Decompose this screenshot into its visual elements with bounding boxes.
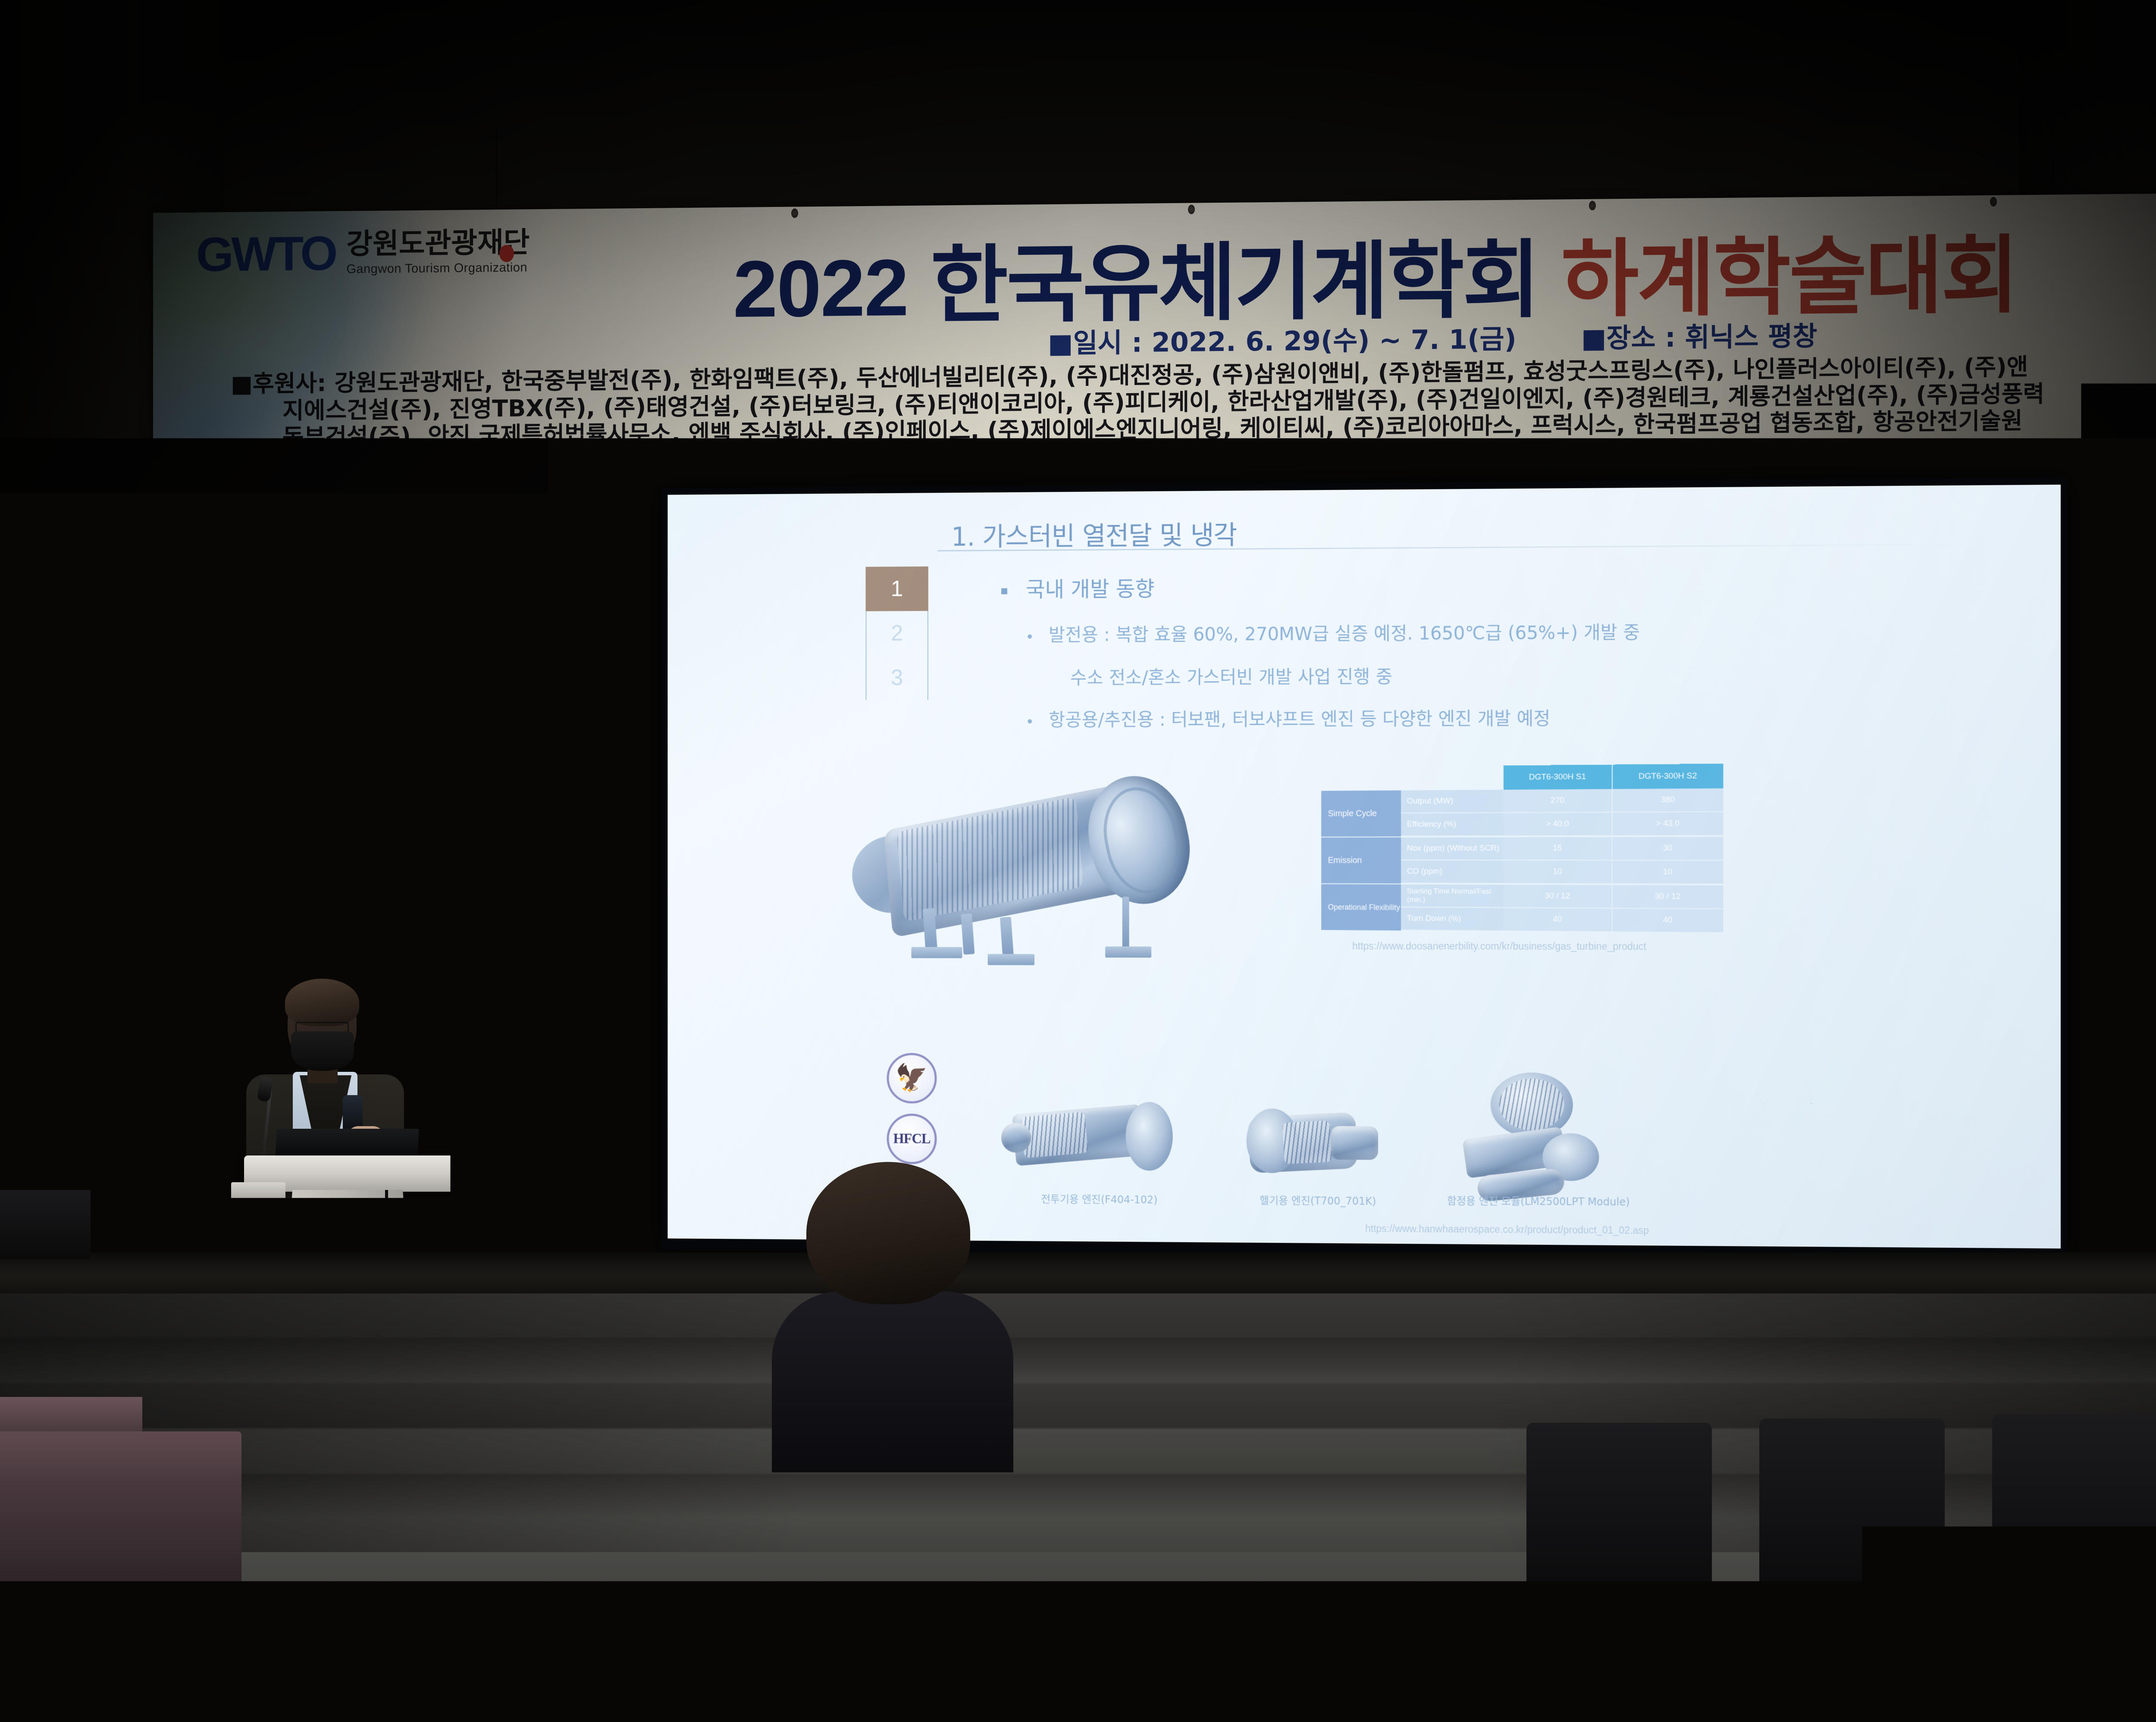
banner-year: 2022 (733, 242, 908, 335)
table-row-label: Nox (ppm) (Without SCR) (1401, 837, 1504, 861)
audience-head (720, 1380, 1031, 1638)
audience-ear-right (1009, 1509, 1056, 1574)
bullet-item-1: 발전용 : 복합 효율 60%, 270MW급 실증 예정. 1650℃급 (6… (1028, 618, 1640, 647)
presentation-slide: 1. 가스터빈 열전달 및 냉각 1 2 3 국내 개발 동향 발전용 : 복합… (667, 485, 2061, 1249)
seat (1992, 1414, 2156, 1604)
table-col-header: DGT6-300H S1 (1504, 764, 1613, 789)
rail-step-1: 1 (866, 567, 928, 611)
side-table-draped (0, 1431, 241, 1587)
engine-caption: 전투기용 엔진(F404-102) (1041, 1190, 1157, 1206)
speaker-hair (285, 979, 359, 1026)
rail-step-3: 3 (866, 655, 928, 700)
bullet-heading-text: 국내 개발 동향 (1026, 577, 1154, 602)
gwto-wordmark: GWTO (196, 229, 335, 279)
podium-monitor (275, 1129, 419, 1159)
hfcl-lab-logo-icon: HFCL (887, 1114, 937, 1165)
table-header-row: DGT6-300H S1 DGT6-300H S2 (1321, 764, 1724, 791)
table-cell: > 40.0 (1504, 813, 1613, 836)
table-row-label: Turn Down (%) (1401, 908, 1504, 931)
table-group-label: Simple Cycle (1321, 790, 1401, 837)
table-cell: > 43.0 (1613, 812, 1724, 836)
conference-photo-scene: GWTO 강원도관광재단 Gangwon Tourism Organizatio… (0, 0, 2156, 1722)
banner-date: ■일시 : 2022. 6. 29(수) ~ 7. 1(금) (1048, 317, 1517, 360)
bullet-heading: 국내 개발 동향 (1001, 572, 1154, 604)
seat (1526, 1423, 1712, 1604)
table-cell: 270 (1504, 789, 1613, 813)
table-cell: 40 (1504, 908, 1613, 932)
table-cell: 30 (1613, 837, 1724, 861)
table-row: Operational Flexibility Starting Time No… (1321, 884, 1724, 934)
bullet-item-1-continuation: 수소 전소/혼소 가스터빈 개발 사업 진행 중 (1070, 662, 1392, 690)
bullet-square-icon (1001, 588, 1007, 594)
table-cell: 40 (1613, 908, 1724, 933)
wall-panel-left (0, 0, 224, 1285)
banner-sponsor-list: ■후원사: 강원도관광재단, 한국중부발전(주), 한화임팩트(주), 두산에너… (231, 351, 2156, 452)
desk-row (1733, 1591, 2156, 1694)
source-url-doosan: https://www.doosanenerbility.com/kr/busi… (1352, 940, 1646, 952)
audience-member-foreground (655, 1380, 1095, 1722)
gwto-english-name: Gangwon Tourism Organization (346, 260, 530, 276)
side-table-upper (0, 1397, 142, 1436)
banner-venue: ■장소 : 휘닉스 평창 (1581, 314, 1817, 355)
bullet-dot-icon (1028, 634, 1032, 639)
table-group-label: Emission (1321, 837, 1401, 884)
side-monitor (0, 1190, 91, 1259)
projection-screen: 1. 가스터빈 열전달 및 냉각 1 2 3 국내 개발 동향 발전용 : 복합… (662, 478, 2067, 1260)
table-cell: 10 (1613, 861, 1724, 884)
table-row-label: Efficiency (%) (1401, 813, 1504, 836)
table-cell: 15 (1504, 837, 1613, 861)
engine-caption: 헬기용 엔진(T700_701K) (1260, 1192, 1376, 1208)
audience-head (806, 1162, 970, 1304)
turbine-spec-table: DGT6-300H S1 DGT6-300H S2 Simple Cycle O… (1321, 764, 1724, 934)
slide-title: 1. 가스터빈 열전달 및 냉각 (951, 514, 1237, 554)
bullet-item-2: 항공용/추진용 : 터보팬, 터보샤프트 엔진 등 다양한 엔진 개발 예정 (1028, 704, 1550, 732)
bullet-item-1-text: 발전용 : 복합 효율 60%, 270MW급 실증 예정. 1650℃급 (6… (1049, 622, 1640, 645)
engine-caption: 함정용 엔진 모듈(LM2500LPT Module) (1447, 1192, 1630, 1209)
korea-aerospace-university-logo-icon: 🦅 (887, 1053, 937, 1103)
engine-image-helicopter: 헬기용 엔진(T700_701K) (1232, 1084, 1404, 1215)
engine-image-naval-module: 함정용 엔진 모듈(LM2500LPT Module) (1438, 1068, 1638, 1216)
rail-step-2: 2 (866, 611, 928, 656)
seat (1759, 1418, 1945, 1604)
table-cell: 10 (1504, 861, 1613, 884)
gas-turbine-illustration (835, 745, 1205, 986)
table-cell: 30 / 12 (1504, 885, 1613, 908)
table-row: Simple Cycle Output (MW) 270 380 Efficie… (1321, 788, 1724, 837)
engine-image-fighter: 전투기용 엔진(F404-102) (1001, 1083, 1197, 1213)
table-row-label: Starting Time Normal/Fast (min.) (1401, 884, 1504, 908)
eagle-icon: 🦅 (896, 1065, 928, 1092)
source-url-hanwha: https://www.hanwhaaerospace.co.kr/produc… (1365, 1223, 1649, 1237)
conference-banner: GWTO 강원도관광재단 Gangwon Tourism Organizatio… (153, 192, 2156, 482)
table-row-label: Output (MW) (1401, 790, 1504, 814)
table-group-label: Operational Flexibility (1321, 884, 1401, 932)
gwto-logo: GWTO 강원도관광재단 Gangwon Tourism Organizatio… (196, 227, 530, 279)
banner-meta: ■일시 : 2022. 6. 29(수) ~ 7. 1(금) ■장소 : 휘닉스… (1048, 314, 1817, 360)
speaker-face-mask (291, 1031, 354, 1071)
desk-row (1190, 1595, 1699, 1694)
table-row-label: CO (ppm) (1401, 861, 1504, 884)
audience-ear-left (697, 1509, 744, 1574)
table-row: Emission Nox (ppm) (Without SCR) 15 30 C… (1321, 837, 1724, 886)
table-cell: 380 (1613, 788, 1724, 812)
table-cell: 30 / 12 (1613, 885, 1724, 909)
equipment-rack-lights (13, 992, 134, 1003)
podium-cable (250, 1190, 388, 1393)
slide-section-rail: 1 2 3 (866, 567, 928, 700)
bullet-item-2-text: 항공용/추진용 : 터보팬, 터보샤프트 엔진 등 다양한 엔진 개발 예정 (1049, 708, 1550, 730)
table-col-header: DGT6-300H S2 (1613, 764, 1724, 789)
bullet-dot-icon (1028, 719, 1032, 723)
